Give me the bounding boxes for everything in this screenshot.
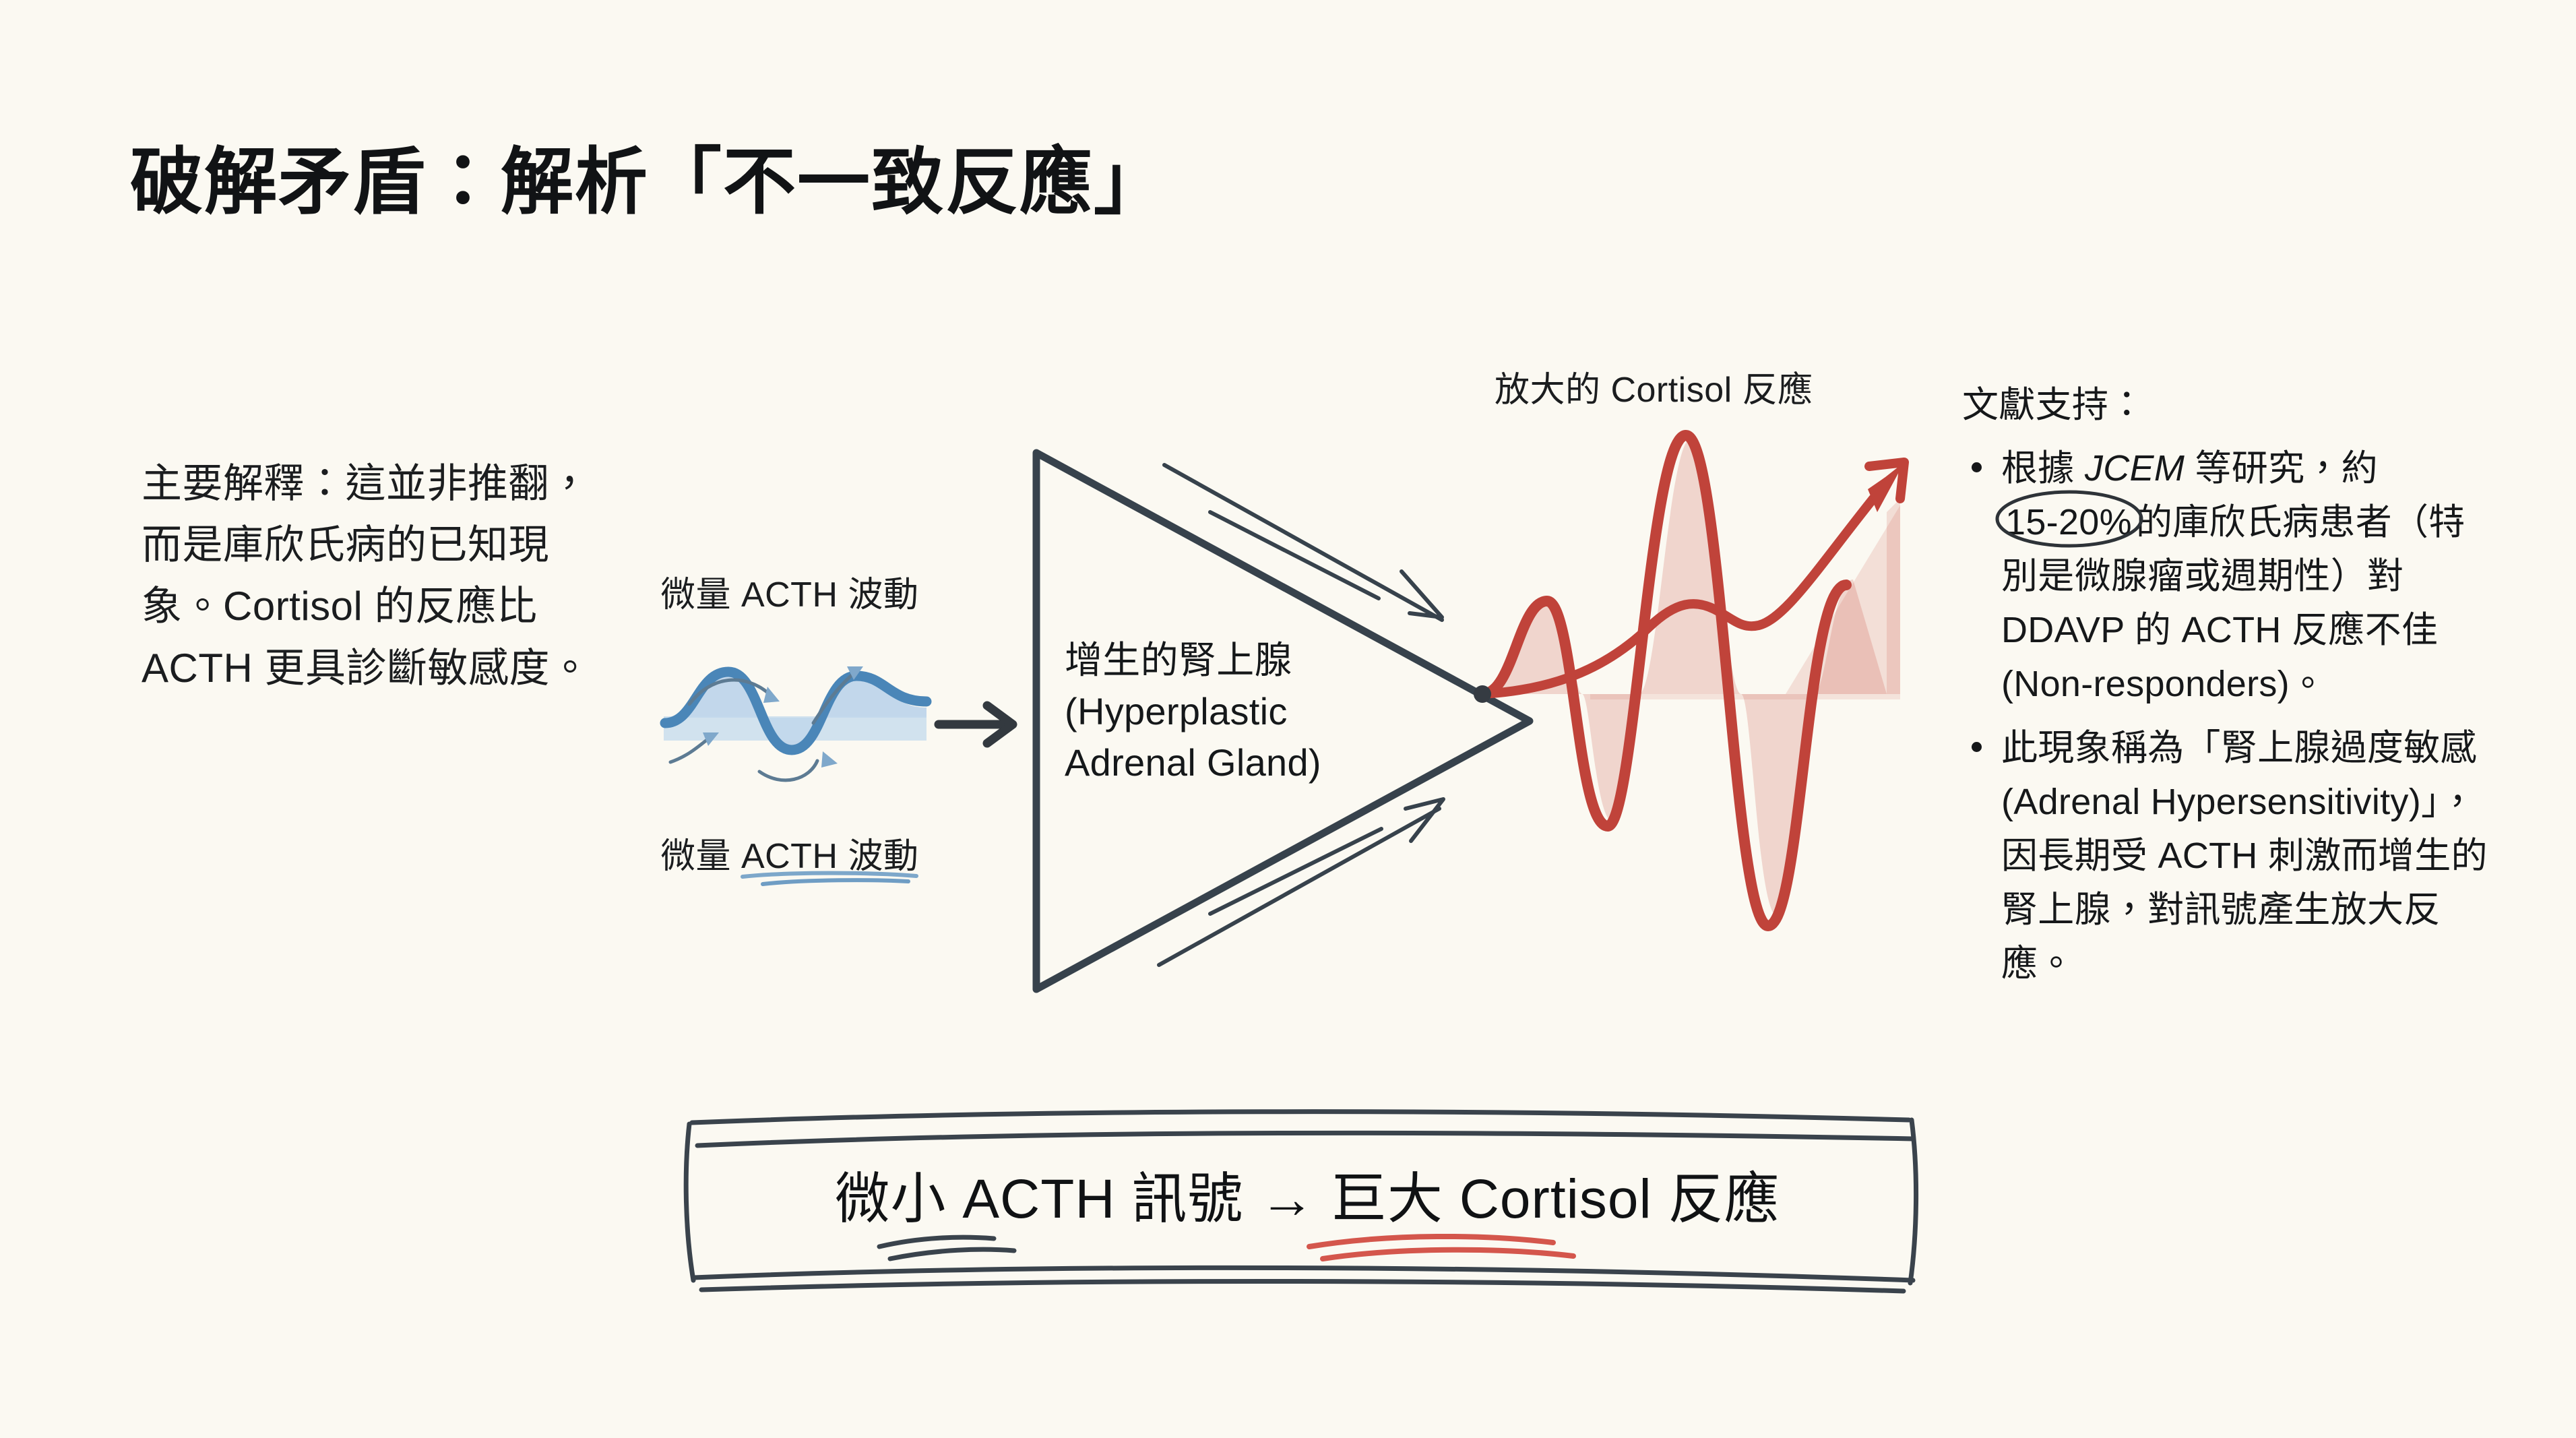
amplify-term-1: 放大 [2331, 889, 2404, 930]
bullet-1-pre: 根據 [2001, 448, 2085, 489]
gland-label-en-2: Adrenal Gland) [1065, 737, 1415, 788]
page-title: 破解矛盾：解析「不一致反應」 [130, 123, 1168, 228]
percentage-circled: 15-20% [2001, 496, 2136, 550]
summary-statement: 微小 ACTH 訊號 → 巨大 Cortisol 反應 [734, 1154, 1880, 1234]
literature-bullet-list: 根據 JCEM 等研究，約 15-20%的庫欣氏病患者（特別是微腺瘤或週期性）對… [1962, 442, 2488, 991]
left-explanation-line-2: 而是庫欣氏病的已知現 [142, 522, 549, 567]
gland-label-en-1: (Hyperplastic [1065, 686, 1415, 737]
literature-heading: 文獻支持： [1962, 379, 2488, 433]
wave-label-bottom: 微量 ACTH 波動 [660, 827, 918, 878]
literature-support-panel: 文獻支持： 根據 JCEM 等研究，約 15-20%的庫欣氏病患者（特別是微腺瘤… [1962, 379, 2488, 1002]
bullet-2-post: 。 [2038, 943, 2074, 984]
percentage-value: 15-20% [2005, 502, 2132, 542]
left-explanation-line-4: ACTH 更具診斷敏感度。 [142, 646, 591, 691]
gland-label: 增生的腎上腺 (Hyperplastic Adrenal Gland) [1065, 635, 1415, 788]
bullet-1-mid: 等研究，約 [2185, 448, 2378, 489]
bullet-1-journal: JCEM [2085, 448, 2185, 489]
wave-label-underline [740, 871, 929, 888]
adrenal-hypersensitivity-term: 腎上腺過度敏感 [2221, 728, 2477, 768]
summary-part-small: 微小 ACTH 訊號 [835, 1168, 1244, 1230]
list-item: 根據 JCEM 等研究，約 15-20%的庫欣氏病患者（特別是微腺瘤或週期性）對… [1962, 442, 2488, 712]
sine-wave-icon [657, 637, 940, 799]
gland-label-zh: 增生的腎上腺 [1065, 635, 1415, 686]
bullet-2-pre: 此現象稱為「 [2001, 728, 2221, 768]
slide-root: 破解矛盾：解析「不一致反應」 主要解釋：這並非推翻， 而是庫欣氏病的已知現 象。… [0, 0, 2576, 1438]
wave-label-top: 微量 ACTH 波動 [660, 566, 957, 617]
summary-arrow-icon: → [1259, 1168, 1315, 1230]
summary-part-big: 巨大 Cortisol 反應 [1331, 1168, 1780, 1230]
list-item: 此現象稱為「腎上腺過度敏感 (Adrenal Hypersensitivity)… [1962, 722, 2488, 991]
cortisol-waveform-chart [1469, 404, 1981, 977]
left-explanation-line-3: 象。Cortisol 的反應比 [142, 584, 538, 629]
left-explanation-line-1: 主要解釋：這並非推翻， [142, 461, 590, 506]
left-explanation-text: 主要解釋：這並非推翻， 而是庫欣氏病的已知現 象。Cortisol 的反應比 A… [142, 453, 613, 699]
